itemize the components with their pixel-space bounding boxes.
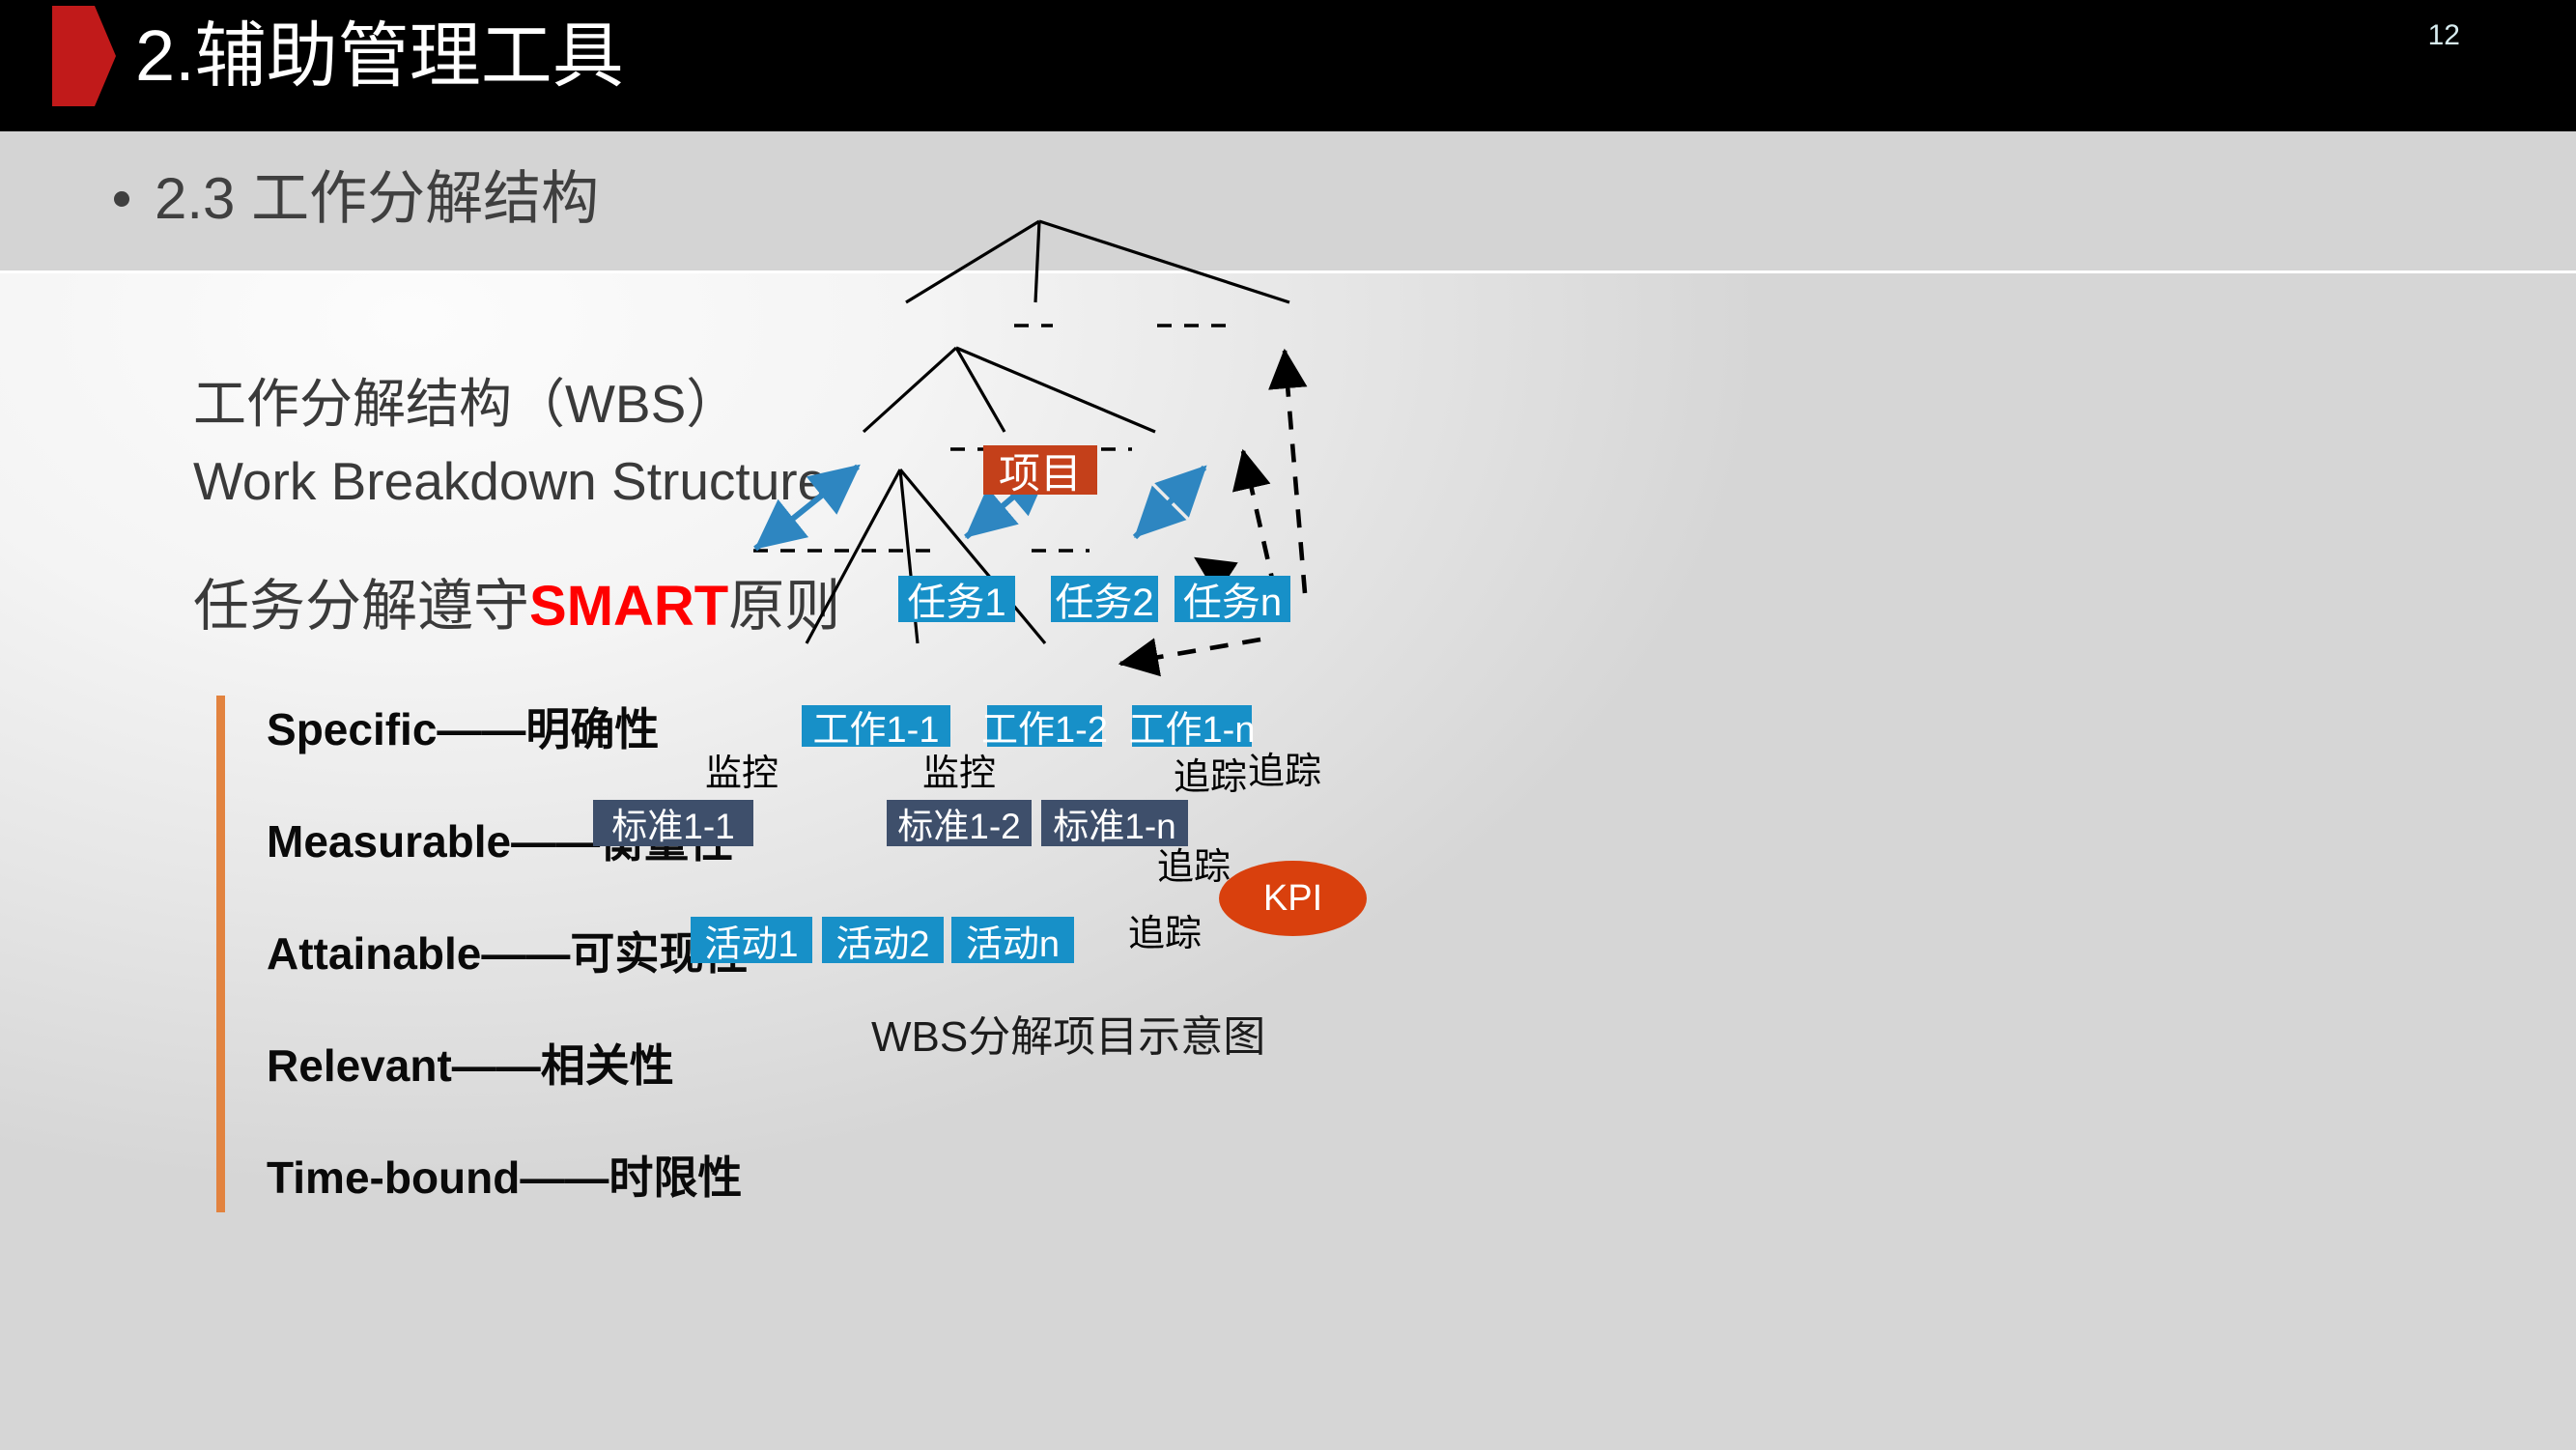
- edge-label-monitor-right: 监控: [922, 753, 996, 795]
- node-standard-1-2[interactable]: 标准1-2: [887, 800, 1032, 846]
- edge-label-track-2: 追踪: [1248, 751, 1321, 793]
- diagram-caption: WBS分解项目示意图: [871, 1011, 1265, 1064]
- edge-label-track-1: 追踪: [1174, 756, 1247, 799]
- node-standard-1-n[interactable]: 标准1-n: [1041, 800, 1188, 846]
- node-task-n[interactable]: 任务n: [1175, 576, 1290, 622]
- wbs-diagram: [1014, 273, 2576, 1450]
- node-activity-n[interactable]: 活动n: [951, 917, 1074, 963]
- node-project[interactable]: 项目: [983, 445, 1097, 495]
- node-work-1-2[interactable]: 工作1-2: [987, 705, 1102, 747]
- edge-label-track-4: 追踪: [1128, 913, 1202, 955]
- diagram-edges: [0, 0, 2576, 1450]
- node-activity-1[interactable]: 活动1: [691, 917, 812, 963]
- edge-label-monitor-left: 监控: [705, 753, 778, 795]
- node-work-1-n[interactable]: 工作1-n: [1132, 705, 1252, 747]
- edge-label-track-3: 追踪: [1157, 846, 1231, 889]
- node-task-2[interactable]: 任务2: [1051, 576, 1158, 622]
- node-activity-2[interactable]: 活动2: [822, 917, 944, 963]
- node-task-1[interactable]: 任务1: [898, 576, 1015, 622]
- slide: 2.辅助管理工具 12 2.3 工作分解结构 工作分解结构（WBS） Work …: [0, 0, 2576, 1450]
- slide-body: 工作分解结构（WBS） Work Breakdown Structure 任务分…: [0, 273, 2576, 1450]
- node-work-1-1[interactable]: 工作1-1: [802, 705, 950, 747]
- node-standard-1-1[interactable]: 标准1-1: [593, 800, 753, 846]
- node-kpi[interactable]: KPI: [1219, 861, 1367, 936]
